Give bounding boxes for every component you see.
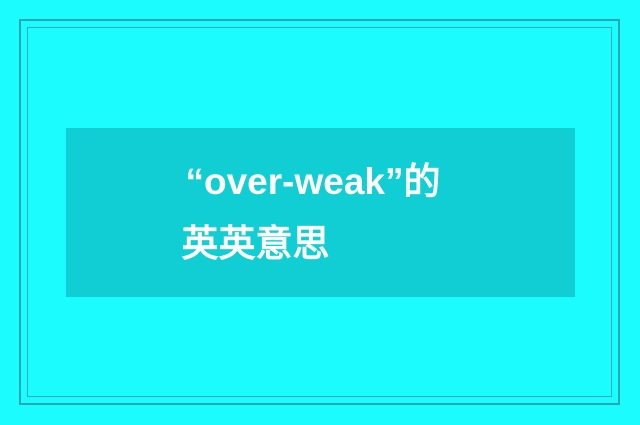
card-title-text: “over-weak”的英英意思 <box>182 151 460 275</box>
title-card: “over-weak”的英英意思 <box>66 128 575 297</box>
poster-canvas: “over-weak”的英英意思 <box>0 0 640 425</box>
